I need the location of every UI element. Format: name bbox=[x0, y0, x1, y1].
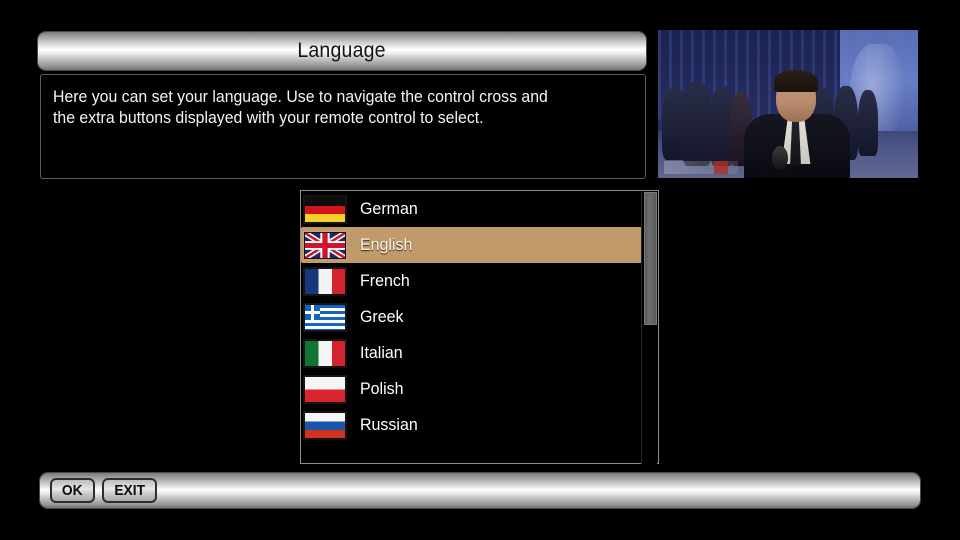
list-item-english[interactable]: English bbox=[301, 227, 642, 263]
flag-germany-icon bbox=[304, 196, 346, 223]
window-title-bar: Language bbox=[38, 32, 646, 70]
flag-russia-icon bbox=[304, 412, 346, 439]
list-item-label: Italian bbox=[360, 343, 403, 363]
list-item-label: English bbox=[360, 235, 412, 255]
exit-button-label: EXIT bbox=[114, 482, 145, 499]
list-item-label: French bbox=[360, 271, 410, 291]
list-item-polish[interactable]: Polish bbox=[301, 371, 642, 407]
list-item-italian[interactable]: Italian bbox=[301, 335, 642, 371]
ok-button-label: OK bbox=[62, 482, 83, 499]
tv-settings-screen: Language Here you can set your language.… bbox=[0, 0, 960, 540]
preview-reporter-hair bbox=[774, 70, 818, 92]
list-scrollbar-track[interactable] bbox=[641, 192, 657, 464]
list-item-french[interactable]: French bbox=[301, 263, 642, 299]
list-item-label: Greek bbox=[360, 307, 404, 327]
list-item-label: Polish bbox=[360, 379, 404, 399]
flag-greece-icon bbox=[304, 304, 346, 331]
list-item-label: Russian bbox=[360, 415, 418, 435]
list-item-label: German bbox=[360, 199, 418, 219]
live-tv-preview[interactable] bbox=[658, 30, 918, 178]
help-description-text: Here you can set your language. Use to n… bbox=[53, 87, 608, 129]
page-title: Language bbox=[298, 39, 386, 63]
list-item-german[interactable]: German bbox=[301, 191, 642, 227]
news-channel-logo-accent bbox=[714, 161, 728, 174]
flag-poland-icon bbox=[304, 376, 346, 403]
preview-crowd-figure bbox=[858, 90, 878, 156]
bottom-button-bar: OK EXIT bbox=[40, 473, 920, 508]
help-description-box: Here you can set your language. Use to n… bbox=[40, 74, 646, 179]
language-list[interactable]: German English French bbox=[300, 190, 659, 464]
language-list-items: German English French bbox=[301, 191, 642, 463]
list-scrollbar-thumb[interactable] bbox=[644, 192, 657, 325]
flag-italy-icon bbox=[304, 340, 346, 367]
exit-button[interactable]: EXIT bbox=[102, 478, 157, 503]
list-item-greek[interactable]: Greek bbox=[301, 299, 642, 335]
preview-crowd-figure bbox=[682, 82, 712, 166]
flag-france-icon bbox=[304, 268, 346, 295]
preview-microphone bbox=[772, 146, 788, 170]
ok-button[interactable]: OK bbox=[50, 478, 95, 503]
list-item-russian[interactable]: Russian bbox=[301, 407, 642, 443]
flag-united-kingdom-icon bbox=[304, 232, 346, 259]
